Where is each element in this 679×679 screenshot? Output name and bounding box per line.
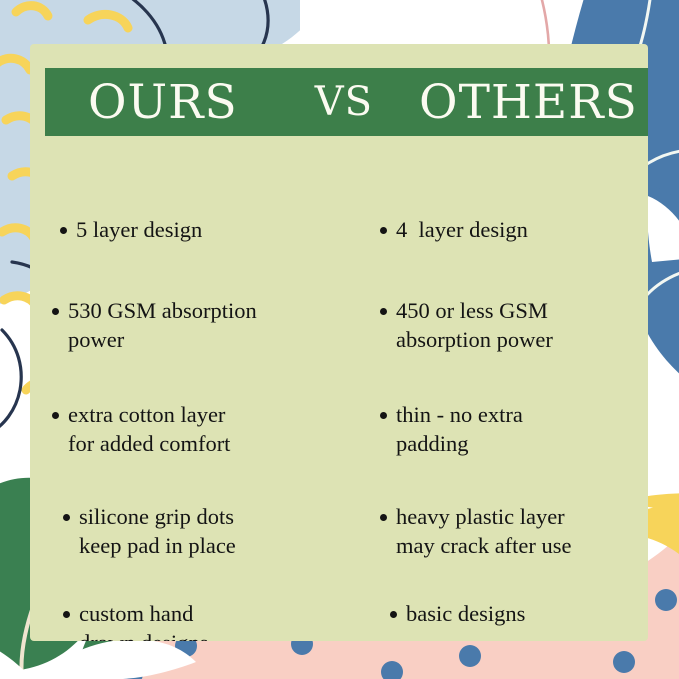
list-item: 4 layer design: [380, 216, 528, 245]
list-item: silicone grip dots keep pad in place: [63, 503, 236, 561]
bullet-icon: [380, 227, 387, 234]
list-item-label: extra cotton layer for added comfort: [68, 401, 230, 459]
title-bar: OURS VS OTHERS: [45, 68, 648, 136]
list-item: 450 or less GSM absorption power: [380, 297, 553, 355]
column-ours: 5 layer design 530 GSM absorption power …: [30, 156, 368, 641]
list-item: basic designs: [390, 600, 525, 629]
list-item: 530 GSM absorption power: [52, 297, 257, 355]
bullet-icon: [63, 514, 70, 521]
list-item-label: basic designs: [406, 600, 525, 629]
list-item-label: thin - no extra padding: [396, 401, 523, 459]
comparison-card: OURS VS OTHERS 5 layer design 530 GSM ab…: [30, 44, 648, 641]
bullet-icon: [52, 412, 59, 419]
list-item-label: custom hand drawn designs: [79, 600, 208, 641]
list-item-label: silicone grip dots keep pad in place: [79, 503, 236, 561]
title-ours: OURS: [88, 79, 238, 126]
title-others: OTHERS: [419, 79, 638, 126]
comparison-columns: 5 layer design 530 GSM absorption power …: [30, 156, 648, 641]
list-item: extra cotton layer for added comfort: [52, 401, 230, 459]
list-item: 5 layer design: [60, 216, 202, 245]
list-item: custom hand drawn designs: [63, 600, 208, 641]
bullet-icon: [52, 308, 59, 315]
bullet-icon: [60, 227, 67, 234]
list-item: thin - no extra padding: [380, 401, 523, 459]
bullet-icon: [390, 611, 397, 618]
bullet-icon: [380, 412, 387, 419]
poster-canvas: OURS VS OTHERS 5 layer design 530 GSM ab…: [0, 0, 679, 679]
list-item-label: 5 layer design: [76, 216, 202, 245]
title-vs: VS: [315, 82, 373, 122]
column-others: 4 layer design 450 or less GSM absorptio…: [368, 156, 648, 641]
list-item-label: 530 GSM absorption power: [68, 297, 257, 355]
list-item-label: 450 or less GSM absorption power: [396, 297, 553, 355]
bullet-icon: [380, 514, 387, 521]
list-item: heavy plastic layer may crack after use: [380, 503, 572, 561]
bullet-icon: [63, 611, 70, 618]
list-item-label: heavy plastic layer may crack after use: [396, 503, 572, 561]
list-item-label: 4 layer design: [396, 216, 528, 245]
bullet-icon: [380, 308, 387, 315]
